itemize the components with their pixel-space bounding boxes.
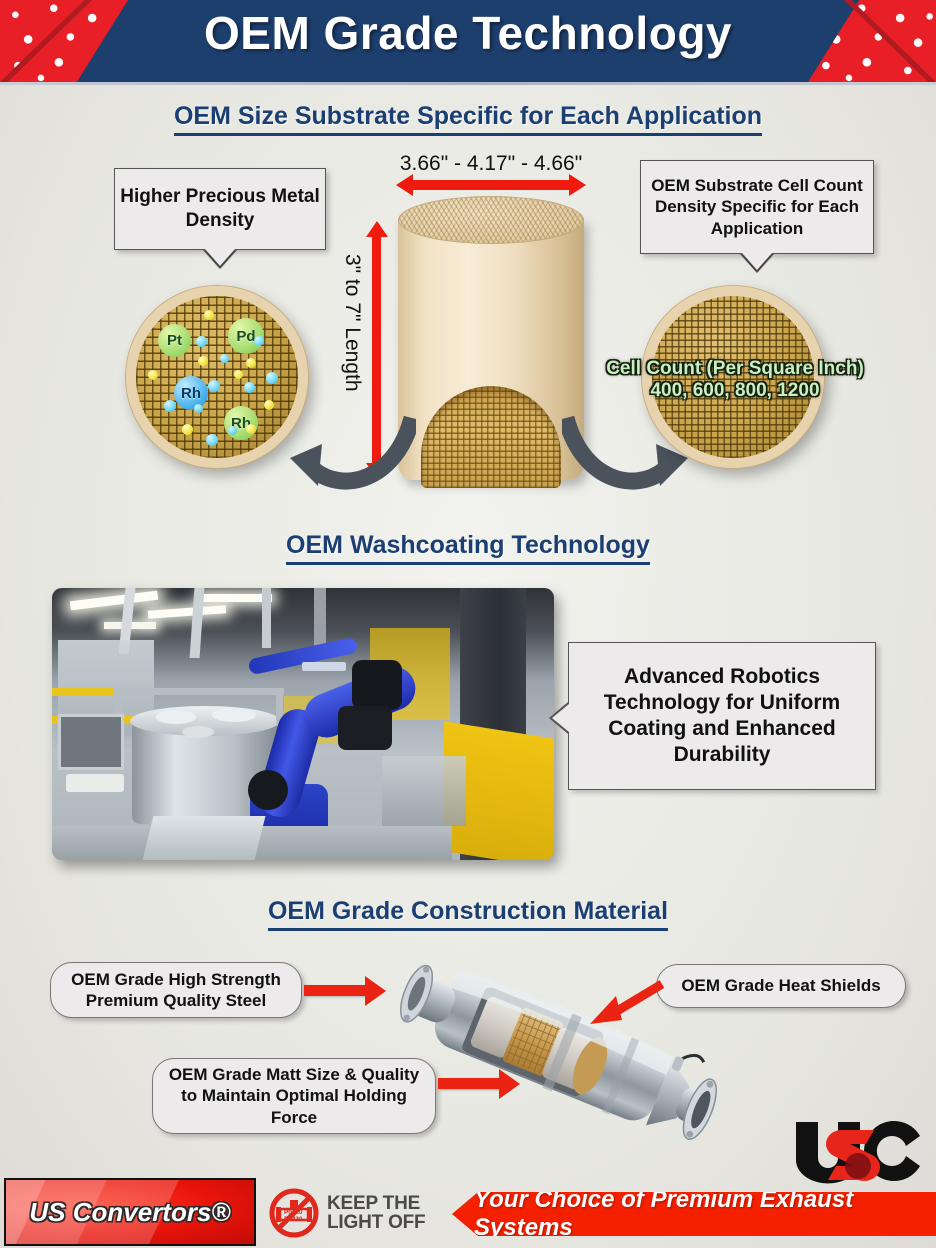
- particle-dot: [234, 370, 243, 379]
- particle-dot: [206, 434, 218, 446]
- robot-wrist: [352, 660, 402, 710]
- dtc-code-1: P0420: [284, 1209, 303, 1216]
- particle-dot: [198, 356, 208, 366]
- metal-particle-rh-blue: Rh: [174, 376, 208, 410]
- arrow-to-heat-shields: [586, 980, 666, 1026]
- length-label: 3" to 7" Length: [340, 254, 364, 392]
- section-title-substrate: OEM Size Substrate Specific for Each App…: [0, 102, 936, 131]
- robot-brand-label: [302, 662, 346, 671]
- metal-particle-rh-green: Rh: [224, 406, 258, 440]
- page-header: OEM Grade Technology: [0, 0, 936, 82]
- usc-logo: U: [792, 1118, 924, 1184]
- section-title-construction: OEM Grade Construction Material: [0, 897, 936, 926]
- callout-advanced-robotics: Advanced Robotics Technology for Uniform…: [568, 642, 876, 790]
- substrate-cylinder: [398, 196, 584, 492]
- brand-name: US Convertors®: [29, 1197, 230, 1228]
- particle-dot: [194, 404, 203, 413]
- footer-tagline-banner: Your Choice of Premium Exhaust Systems: [452, 1192, 936, 1236]
- callout-text: Higher Precious Metal Density: [115, 185, 325, 233]
- arrow-to-steel: [304, 985, 366, 996]
- particle-dot: [244, 382, 255, 393]
- particle-dot: [204, 310, 214, 320]
- keep-light-line-1: KEEP THE: [327, 1194, 425, 1213]
- control-monitor: [58, 714, 124, 770]
- tank-port: [156, 710, 196, 724]
- callout-text: Advanced Robotics Technology for Uniform…: [569, 664, 875, 769]
- particle-dot: [148, 370, 158, 380]
- tank-port: [182, 726, 214, 738]
- keep-light-off-text: KEEP THE LIGHT OFF: [327, 1194, 425, 1233]
- no-symbol-icon: P0420 P0430: [268, 1187, 320, 1239]
- particle-dot: [220, 354, 229, 363]
- keep-light-line-2: LIGHT OFF: [327, 1213, 425, 1232]
- ceiling-beam: [314, 588, 326, 646]
- dtc-code-2: P0430: [284, 1216, 303, 1223]
- particle-dot: [246, 424, 256, 434]
- particle-dot: [246, 358, 256, 368]
- particle-dot: [182, 424, 193, 435]
- metal-particle-pt: Pt: [158, 324, 191, 357]
- callout-text: OEM Grade Heat Shields: [681, 975, 880, 996]
- particle-dot: [164, 400, 176, 412]
- callout-text: OEM Substrate Cell Count Density Specifi…: [641, 175, 873, 239]
- machine-frame: [114, 688, 284, 695]
- section-title-washcoating: OEM Washcoating Technology: [0, 531, 936, 560]
- washcoating-facility-photo: [52, 588, 554, 860]
- callout-matt-holding-force: OEM Grade Matt Size & Quality to Maintai…: [152, 1058, 436, 1134]
- callout-higher-precious-metal-density: Higher Precious Metal Density: [114, 168, 326, 250]
- tank-port: [212, 708, 256, 722]
- keep-the-light-off-badge: P0420 P0430 KEEP THE LIGHT OFF: [268, 1184, 448, 1242]
- us-convertors-logo: US Convertors®: [4, 1178, 256, 1246]
- infographic-page: OEM Grade Technology OEM Size Substrate …: [0, 0, 936, 1248]
- robot-joint-motor: [338, 706, 392, 750]
- curved-arrow-left: [286, 398, 416, 498]
- cell-count-title: Cell Count (Per Square Inch): [590, 358, 880, 380]
- particle-dot: [254, 336, 264, 346]
- particle-dot: [196, 336, 207, 347]
- conveyor-frame: [382, 756, 466, 826]
- particle-dot: [208, 380, 220, 392]
- cell-count-values: 400, 600, 800, 1200: [590, 380, 880, 402]
- tagline-text: Your Choice of Premium Exhaust Systems: [452, 1186, 936, 1242]
- magnified-substrate-metals: Pt Pd Rh Rh: [126, 286, 308, 468]
- particle-dot: [228, 426, 237, 435]
- callout-text: OEM Grade Matt Size & Quality to Maintai…: [163, 1064, 425, 1128]
- callout-text: OEM Grade High Strength Premium Quality …: [61, 969, 291, 1012]
- ceiling-beam: [262, 588, 271, 648]
- page-title: OEM Grade Technology: [0, 6, 936, 60]
- header-underline: [0, 82, 936, 85]
- callout-cell-count-density: OEM Substrate Cell Count Density Specifi…: [640, 160, 874, 254]
- floor-panel: [143, 816, 266, 860]
- robot-shoulder-motor: [248, 770, 288, 810]
- cylinder-top-honeycomb: [398, 196, 584, 244]
- page-footer: US Convertors® P0420 P0430 KEEP THE LIGH…: [0, 1178, 936, 1248]
- diameter-arrow: [412, 180, 570, 190]
- diameter-label: 3.66" - 4.17" - 4.66": [361, 152, 621, 176]
- callout-heat-shields: OEM Grade Heat Shields: [656, 964, 906, 1008]
- control-keyboard: [66, 774, 124, 792]
- arrow-to-matt: [438, 1078, 500, 1089]
- particle-dot: [266, 372, 278, 384]
- callout-premium-quality-steel: OEM Grade High Strength Premium Quality …: [50, 962, 302, 1018]
- particle-dot: [264, 400, 274, 410]
